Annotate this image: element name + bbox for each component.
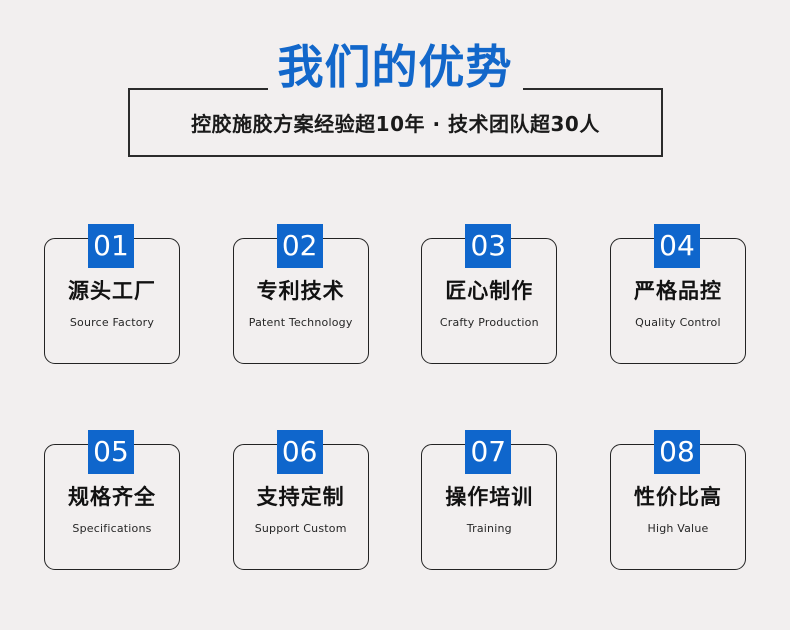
advantage-card-number-badge: 01 xyxy=(88,224,134,268)
advantage-card-title-en: Training xyxy=(467,522,512,535)
advantage-card-number-badge: 06 xyxy=(277,430,323,474)
page-title-container: 我们的优势 xyxy=(0,44,790,90)
advantage-card-title-cn: 规格齐全 xyxy=(68,486,156,507)
header-subtitle: 控胶施胶方案经验超10年 · 技术团队超30人 xyxy=(128,88,663,157)
advantage-card-05[interactable]: 规格齐全 Specifications 05 xyxy=(44,430,180,570)
advantages-header: 控胶施胶方案经验超10年 · 技术团队超30人 我们的优势 xyxy=(0,0,790,190)
advantage-cards-grid: 源头工厂 Source Factory 01 专利技术 Patent Techn… xyxy=(44,224,746,570)
advantage-card-title-cn: 支持定制 xyxy=(257,486,345,507)
advantage-card-number-badge: 04 xyxy=(654,224,700,268)
advantage-card-title-en: Source Factory xyxy=(70,316,154,329)
advantage-card-08[interactable]: 性价比高 High Value 08 xyxy=(610,430,746,570)
advantage-card-number-badge: 02 xyxy=(277,224,323,268)
advantage-card-number-badge: 05 xyxy=(88,430,134,474)
advantage-card-01[interactable]: 源头工厂 Source Factory 01 xyxy=(44,224,180,364)
advantage-card-title-cn: 源头工厂 xyxy=(68,280,156,301)
advantage-card-number-badge: 08 xyxy=(654,430,700,474)
advantage-card-04[interactable]: 严格品控 Quality Control 04 xyxy=(610,224,746,364)
advantage-card-title-cn: 匠心制作 xyxy=(445,280,533,301)
advantage-card-number-badge: 07 xyxy=(465,430,511,474)
advantage-card-title-en: Support Custom xyxy=(255,522,347,535)
advantage-card-title-en: Quality Control xyxy=(635,316,721,329)
advantage-card-title-cn: 操作培训 xyxy=(445,486,533,507)
advantage-cards-row-2: 规格齐全 Specifications 05 支持定制 Support Cust… xyxy=(44,430,746,570)
advantage-card-title-en: Patent Technology xyxy=(249,316,353,329)
advantage-card-title-cn: 严格品控 xyxy=(634,280,722,301)
advantage-card-number-badge: 03 xyxy=(465,224,511,268)
advantage-card-02[interactable]: 专利技术 Patent Technology 02 xyxy=(233,224,369,364)
advantage-card-title-en: Crafty Production xyxy=(440,316,539,329)
advantage-card-title-en: Specifications xyxy=(72,522,151,535)
advantage-card-06[interactable]: 支持定制 Support Custom 06 xyxy=(233,430,369,570)
page-title: 我们的优势 xyxy=(268,44,523,90)
advantage-card-title-cn: 专利技术 xyxy=(257,280,345,301)
advantage-card-07[interactable]: 操作培训 Training 07 xyxy=(421,430,557,570)
advantage-card-03[interactable]: 匠心制作 Crafty Production 03 xyxy=(421,224,557,364)
advantage-cards-row-1: 源头工厂 Source Factory 01 专利技术 Patent Techn… xyxy=(44,224,746,364)
advantage-card-title-en: High Value xyxy=(647,522,708,535)
advantage-card-title-cn: 性价比高 xyxy=(634,486,722,507)
